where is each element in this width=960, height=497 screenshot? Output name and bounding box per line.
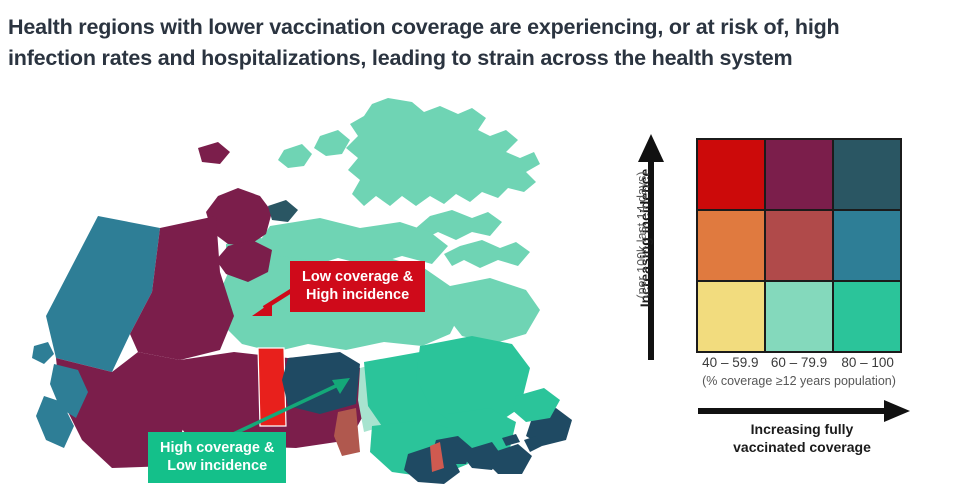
page-title-line-1: Health regions with lower vaccination co… <box>8 12 952 43</box>
legend-cell-r0c2[interactable] <box>833 281 901 352</box>
callout-high-coverage-line-2: Low incidence <box>160 457 274 475</box>
callout-low-coverage-line-2: High incidence <box>302 286 413 304</box>
increasing-coverage-label: Increasing fully vaccinated coverage <box>686 420 918 456</box>
callout-high-coverage-low-incidence[interactable]: High coverage & Low incidence <box>148 432 286 483</box>
map-region-bc-island-small <box>32 342 54 364</box>
map-region-arctic-magenta-isle <box>198 142 230 164</box>
legend-cell-r2c1[interactable] <box>765 139 833 210</box>
legend-x-ticks: 40 – 59.9 60 – 79.9 80 – 100 <box>696 355 902 370</box>
legend-y-axis-caption: (per 100k last 14 days) <box>635 135 649 335</box>
legend-x-tick-80-100: 80 – 100 <box>833 355 902 370</box>
legend-color-matrix <box>696 138 902 353</box>
bivariate-legend: Increasing incidence (per 100k last 14 d… <box>600 118 950 463</box>
legend-x-tick-60-79: 60 – 79.9 <box>765 355 834 370</box>
increasing-coverage-arrow-icon <box>698 400 910 422</box>
map-region-manitoba-brick <box>334 408 360 456</box>
legend-cell-r1c1[interactable] <box>765 210 833 281</box>
map-region-baffin-east <box>448 278 540 344</box>
map-region-arctic <box>226 98 540 268</box>
page-title: Health regions with lower vaccination co… <box>8 12 952 74</box>
legend-x-tick-40-59: 40 – 59.9 <box>696 355 765 370</box>
legend-cell-r0c1[interactable] <box>765 281 833 352</box>
legend-cell-r2c2[interactable] <box>833 139 901 210</box>
increasing-coverage-line-2: vaccinated coverage <box>686 438 918 456</box>
callout-low-coverage-line-1: Low coverage & <box>302 268 413 286</box>
callout-low-coverage-high-incidence[interactable]: Low coverage & High incidence <box>290 261 425 312</box>
map-region-arctic-dark-isle <box>268 200 298 222</box>
legend-cell-r0c0[interactable] <box>697 281 765 352</box>
legend-cell-r1c2[interactable] <box>833 210 901 281</box>
callout-high-coverage-line-1: High coverage & <box>160 439 274 457</box>
legend-cell-r1c0[interactable] <box>697 210 765 281</box>
increasing-coverage-line-1: Increasing fully <box>686 420 918 438</box>
legend-x-axis-caption: (% coverage ≥12 years population) <box>686 374 912 388</box>
legend-cell-r2c0[interactable] <box>697 139 765 210</box>
page-title-line-2: infection rates and hospitalizations, le… <box>8 43 952 74</box>
